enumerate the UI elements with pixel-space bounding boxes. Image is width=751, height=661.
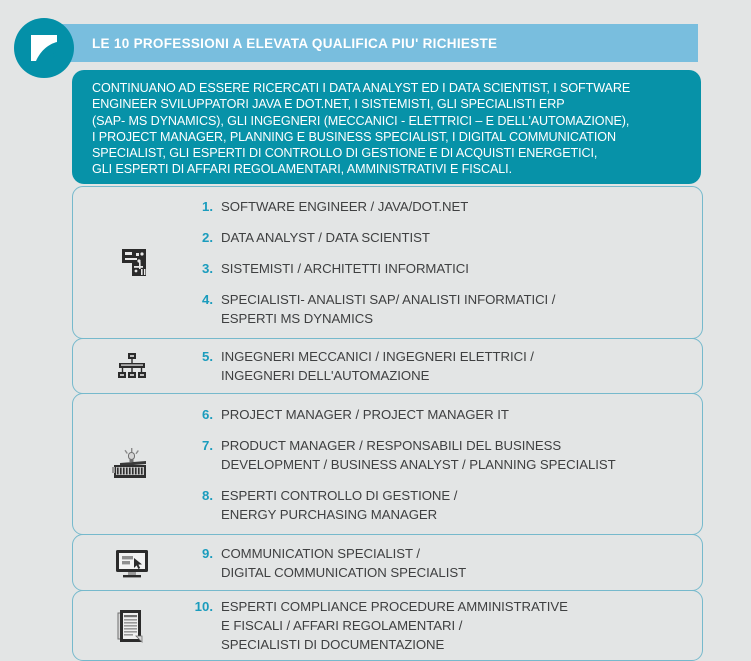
item-number: 8. — [185, 486, 221, 505]
item-number: 3. — [185, 259, 221, 278]
item-label: ESPERTI COMPLIANCE PROCEDURE AMMINISTRAT… — [221, 597, 568, 654]
list-item: 6. PROJECT MANAGER / PROJECT MANAGER IT — [185, 399, 694, 430]
list-item: 7. PRODUCT MANAGER / RESPONSABILI DEL BU… — [185, 430, 694, 480]
list-item: 8. ESPERTI CONTROLLO DI GESTIONE / ENERG… — [185, 480, 694, 530]
item-label: PROJECT MANAGER / PROJECT MANAGER IT — [221, 405, 509, 424]
title-bar: LE 10 PROFESSIONI A ELEVATA QUALIFICA PI… — [62, 24, 698, 62]
profession-group: 1. SOFTWARE ENGINEER / JAVA/DOT.NET 2. D… — [72, 186, 703, 339]
profession-group: 6. PROJECT MANAGER / PROJECT MANAGER IT … — [72, 393, 703, 535]
list-item: 3. SISTEMISTI / ARCHITETTI INFORMATICI — [185, 253, 694, 284]
item-label: ESPERTI CONTROLLO DI GESTIONE / ENERGY P… — [221, 486, 457, 524]
item-label: COMMUNICATION SPECIALIST / DIGITAL COMMU… — [221, 544, 466, 582]
item-label: SISTEMISTI / ARCHITETTI INFORMATICI — [221, 259, 469, 278]
page-title: LE 10 PROFESSIONI A ELEVATA QUALIFICA PI… — [62, 36, 497, 51]
item-number: 2. — [185, 228, 221, 247]
list-item: 10. ESPERTI COMPLIANCE PROCEDURE AMMINIS… — [185, 591, 694, 660]
item-number: 6. — [185, 405, 221, 424]
document-book-icon — [73, 607, 185, 645]
intro-panel: CONTINUANO AD ESSERE RICERCATI I DATA AN… — [72, 70, 701, 184]
org-chart-network-icon — [73, 350, 185, 383]
flag-book-logo-icon — [14, 18, 74, 78]
intro-paragraph: CONTINUANO AD ESSERE RICERCATI I DATA AN… — [92, 80, 687, 178]
circuit-chip-icon — [73, 246, 185, 279]
item-label: SOFTWARE ENGINEER / JAVA/DOT.NET — [221, 197, 468, 216]
item-label: DATA ANALYST / DATA SCIENTIST — [221, 228, 430, 247]
group-items: 6. PROJECT MANAGER / PROJECT MANAGER IT … — [185, 387, 702, 542]
keyboard-icon — [73, 447, 185, 481]
item-number: 7. — [185, 436, 221, 455]
list-item: 2. DATA ANALYST / DATA SCIENTIST — [185, 222, 694, 253]
profession-group: 10. ESPERTI COMPLIANCE PROCEDURE AMMINIS… — [72, 590, 703, 661]
profession-list: 1. SOFTWARE ENGINEER / JAVA/DOT.NET 2. D… — [72, 186, 703, 661]
item-number: 4. — [185, 290, 221, 309]
item-label: PRODUCT MANAGER / RESPONSABILI DEL BUSIN… — [221, 436, 616, 474]
item-label: INGEGNERI MECCANICI / INGEGNERI ELETTRIC… — [221, 347, 534, 385]
item-number: 1. — [185, 197, 221, 216]
item-number: 9. — [185, 544, 221, 563]
item-number: 10. — [185, 597, 221, 616]
page-header: LE 10 PROFESSIONI A ELEVATA QUALIFICA PI… — [0, 18, 751, 72]
group-items: 10. ESPERTI COMPLIANCE PROCEDURE AMMINIS… — [185, 579, 702, 661]
item-number: 5. — [185, 347, 221, 366]
group-items: 1. SOFTWARE ENGINEER / JAVA/DOT.NET 2. D… — [185, 179, 702, 346]
list-item: 5. INGEGNERI MECCANICI / INGEGNERI ELETT… — [185, 341, 694, 391]
monitor-cursor-icon — [73, 547, 185, 579]
list-item: 4. SPECIALISTI- ANALISTI SAP/ ANALISTI I… — [185, 284, 694, 334]
list-item: 1. SOFTWARE ENGINEER / JAVA/DOT.NET — [185, 191, 694, 222]
item-label: SPECIALISTI- ANALISTI SAP/ ANALISTI INFO… — [221, 290, 555, 328]
